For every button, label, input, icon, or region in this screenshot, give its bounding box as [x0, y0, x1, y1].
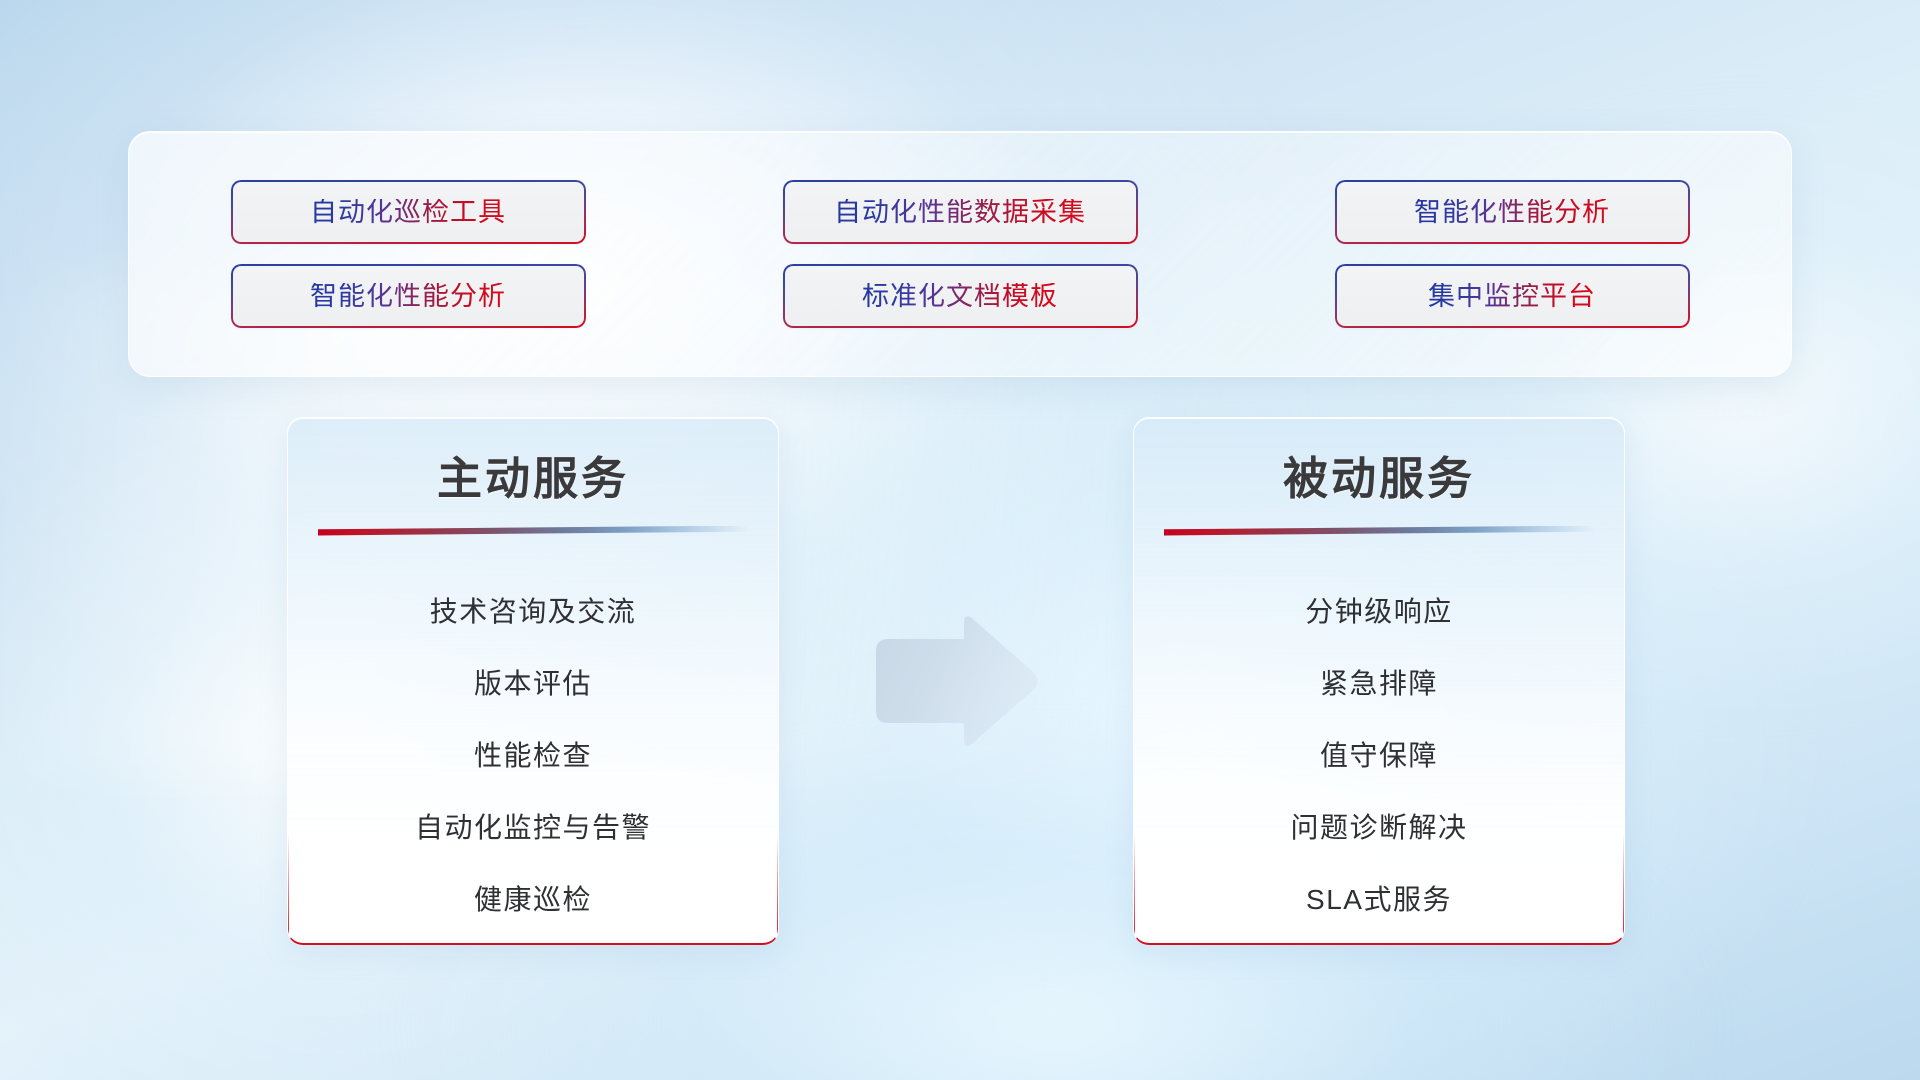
- list-item: 问题诊断解决: [1290, 792, 1467, 864]
- capability-pill-label: 智能化性能分析: [310, 283, 506, 310]
- gradient-rule: [318, 526, 748, 536]
- capability-pill-auto-inspection-tool[interactable]: 自动化巡检工具: [231, 180, 586, 244]
- capability-pill-label: 智能化性能分析: [1414, 199, 1610, 226]
- list-item: 值守保障: [1320, 720, 1438, 792]
- capability-pill-auto-performance-collection[interactable]: 自动化性能数据采集: [783, 180, 1138, 244]
- capability-pill-intelligent-performance-analysis-2[interactable]: 智能化性能分析: [231, 264, 586, 328]
- arrow-right-icon: [872, 613, 1040, 749]
- card-title-proactive: 主动服务: [288, 454, 778, 504]
- capability-pill-label: 标准化文档模板: [862, 283, 1058, 310]
- gradient-rule: [1164, 526, 1594, 536]
- list-item: 分钟级响应: [1305, 576, 1453, 648]
- list-item: 性能检查: [474, 720, 592, 792]
- capability-row-2: 智能化性能分析 标准化文档模板 集中监控平台: [169, 264, 1751, 328]
- title-underline-proactive: [318, 526, 748, 536]
- card-title-reactive: 被动服务: [1134, 454, 1624, 504]
- service-card-reactive: 被动服务 分钟级响应 紧急排障 值守保障 问题诊断解决 SLA式服务: [1133, 417, 1625, 945]
- capability-pill-label: 自动化性能数据采集: [834, 199, 1086, 226]
- service-list-reactive: 分钟级响应 紧急排障 值守保障 问题诊断解决 SLA式服务: [1134, 576, 1624, 936]
- list-item: SLA式服务: [1306, 864, 1452, 936]
- list-item: 版本评估: [474, 648, 592, 720]
- capability-pill-label: 集中监控平台: [1428, 283, 1596, 310]
- title-underline-reactive: [1164, 526, 1594, 536]
- service-list-proactive: 技术咨询及交流 版本评估 性能检查 自动化监控与告警 健康巡检: [288, 576, 778, 936]
- list-item: 技术咨询及交流: [430, 576, 637, 648]
- capability-panel: 自动化巡检工具 自动化性能数据采集 智能化性能分析 智能化性能分析 标准化文档模…: [128, 131, 1792, 377]
- poster-canvas: 自动化巡检工具 自动化性能数据采集 智能化性能分析 智能化性能分析 标准化文档模…: [0, 0, 1920, 1080]
- list-item: 紧急排障: [1320, 648, 1438, 720]
- capability-pill-label: 自动化巡检工具: [310, 199, 506, 226]
- capability-pill-standard-doc-template[interactable]: 标准化文档模板: [783, 264, 1138, 328]
- capability-row-1: 自动化巡检工具 自动化性能数据采集 智能化性能分析: [169, 180, 1751, 244]
- capability-pill-intelligent-performance-analysis[interactable]: 智能化性能分析: [1335, 180, 1690, 244]
- capability-pill-centralized-monitoring-platform[interactable]: 集中监控平台: [1335, 264, 1690, 328]
- list-item: 健康巡检: [474, 864, 592, 936]
- list-item: 自动化监控与告警: [415, 792, 651, 864]
- service-card-proactive: 主动服务 技术咨询及交流 版本评估 性能检查 自动化监控与告警 健康巡检: [287, 417, 779, 945]
